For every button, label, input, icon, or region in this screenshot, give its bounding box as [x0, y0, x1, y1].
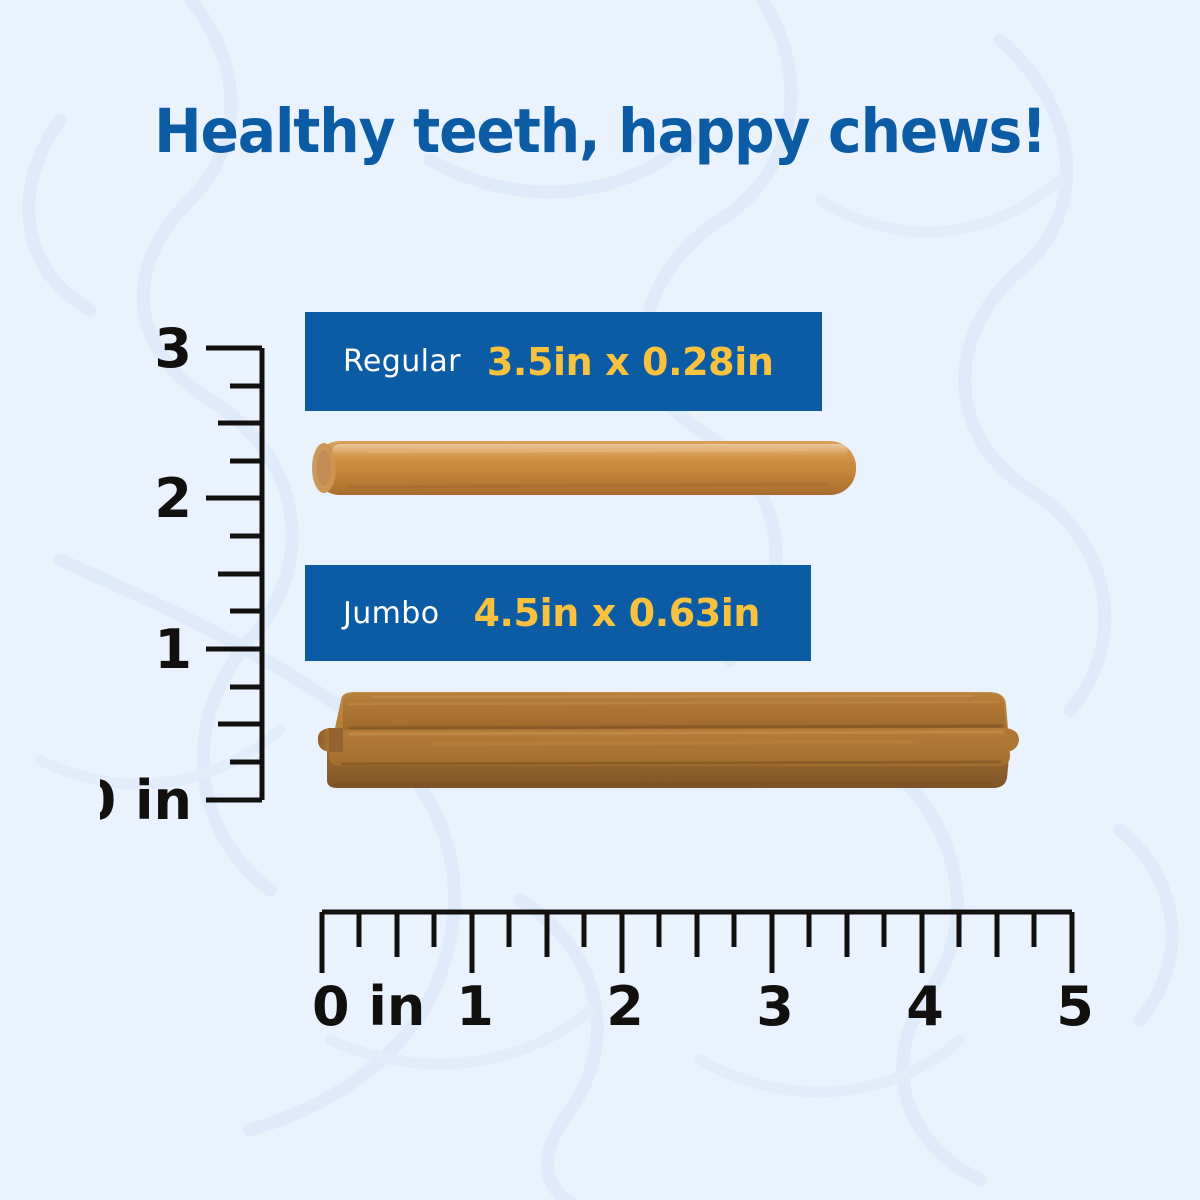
- size-bar-regular: Regular 3.5in x 0.28in: [305, 312, 822, 411]
- size-bar-jumbo: Jumbo 4.5in x 0.63in: [305, 565, 811, 661]
- horizontal-ruler: 0 in 1 2 3 4 5: [300, 895, 1100, 1035]
- vruler-label-3: 3: [154, 320, 192, 380]
- product-image-regular: [308, 437, 862, 499]
- size-label-jumbo-dimensions: 4.5in x 0.63in: [473, 591, 760, 635]
- vertical-ruler: 3 2 1 0 in: [100, 320, 280, 820]
- hruler-label-2: 2: [606, 975, 644, 1035]
- vruler-label-2: 2: [154, 467, 192, 530]
- hruler-label-1: 1: [456, 975, 494, 1035]
- size-label-jumbo-name: Jumbo: [343, 596, 439, 631]
- product-image-jumbo: [313, 684, 1034, 794]
- hruler-label-4: 4: [906, 975, 944, 1035]
- size-label-regular-name: Regular: [343, 344, 461, 379]
- infographic-canvas: Healthy teeth, happy chews! 3 2 1 0 in R…: [0, 0, 1200, 1200]
- page-title: Healthy teeth, happy chews!: [42, 96, 1158, 167]
- hruler-label-5: 5: [1056, 975, 1094, 1035]
- hruler-label-3: 3: [756, 975, 794, 1035]
- size-label-regular-dimensions: 3.5in x 0.28in: [487, 340, 774, 384]
- hruler-label-0: 0 in: [312, 975, 425, 1035]
- vruler-label-1: 1: [154, 618, 192, 681]
- vruler-label-0: 0 in: [100, 769, 192, 820]
